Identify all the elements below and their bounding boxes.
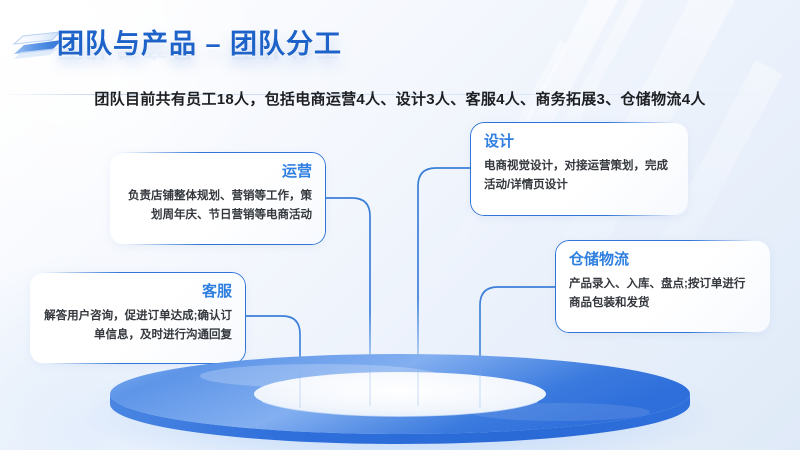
role-card-sheji[interactable]: 设计 电商视觉设计，对接运营策划，完成活动/详情页设计 (470, 122, 688, 216)
role-card-body: 负责店铺整体规划、营销等工作，策划周年庆、节日营销等电商活动 (124, 187, 312, 225)
slide-canvas: 团队与产品 – 团队分工 团队与产品 – 团队分工 团队目前共有员工18人，包括… (0, 0, 800, 450)
page-title: 团队与产品 – 团队分工 (57, 22, 342, 61)
summary-text: 团队目前共有员工18人，包括电商运营4人、设计3人、客服4人、商务拓展3、仓储物… (0, 88, 800, 109)
role-card-cangchu[interactable]: 仓储物流 产品录入、入库、盘点;按订单进行商品包装和发货 (555, 240, 770, 333)
pedestal-ring-graphic (0, 352, 800, 450)
role-card-yunying[interactable]: 运营 负责店铺整体规划、营销等工作，策划周年庆、节日营销等电商活动 (110, 152, 326, 245)
role-card-body: 解答用户咨询，促进订单达成;确认订单信息，及时进行沟通回复 (44, 307, 232, 345)
role-card-kefu[interactable]: 客服 解答用户咨询，促进订单达成;确认订单信息，及时进行沟通回复 (30, 272, 246, 364)
role-card-body: 电商视觉设计，对接运营策划，完成活动/详情页设计 (484, 157, 674, 195)
role-card-title: 仓储物流 (569, 250, 756, 270)
role-card-title: 运营 (124, 162, 312, 182)
role-card-body: 产品录入、入库、盘点;按订单进行商品包装和发货 (569, 275, 756, 313)
role-card-title: 客服 (44, 282, 232, 302)
slide-header: 团队与产品 – 团队分工 团队与产品 – 团队分工 (0, 24, 800, 72)
pedestal-base (0, 352, 800, 450)
role-card-title: 设计 (484, 132, 674, 152)
